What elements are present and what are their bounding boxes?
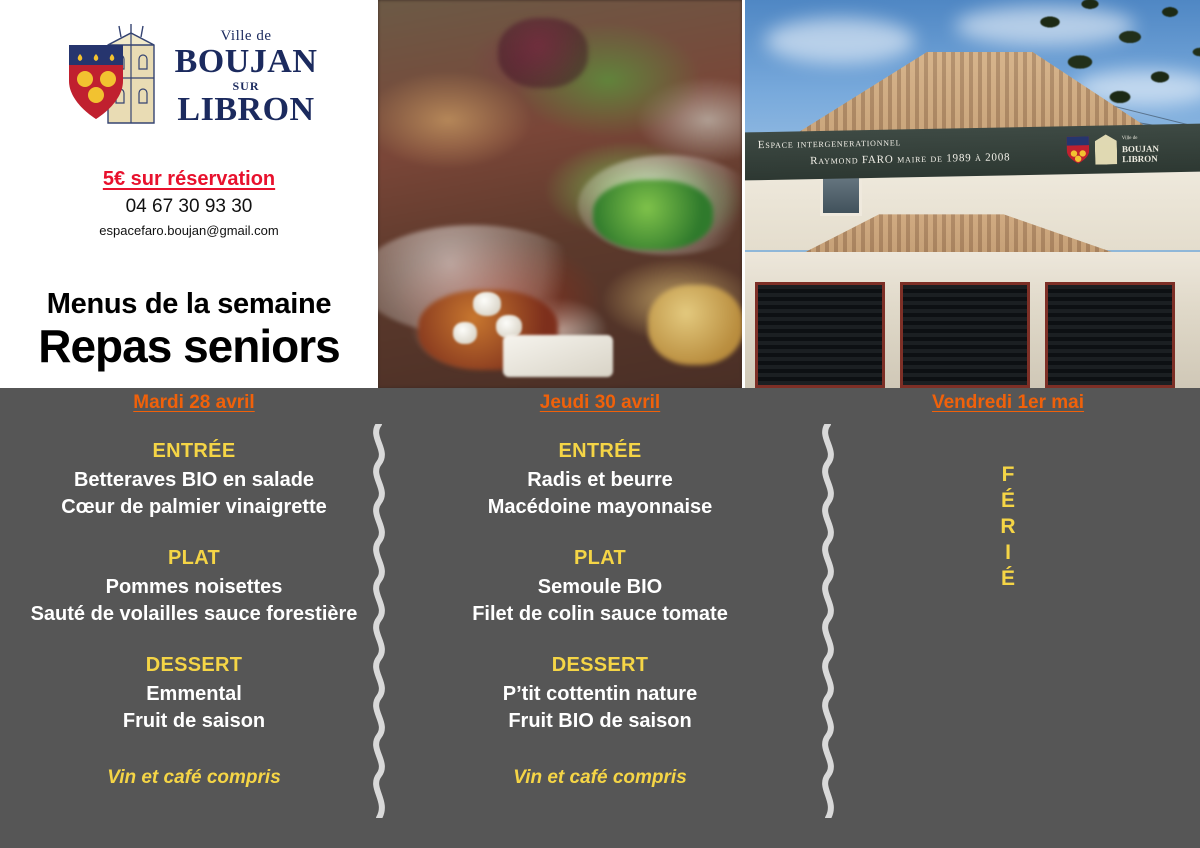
page-subtitle: Menus de la semaine xyxy=(0,288,378,321)
garage-door-1 xyxy=(755,282,885,388)
contact-email: espacefaro.boujan@gmail.com xyxy=(0,223,378,238)
included-note-thursday: Vin et café compris xyxy=(420,767,780,789)
menu-panel: Mardi 28 avril ENTRÉE Betteraves BIO en … xyxy=(0,388,1200,848)
food-mozzarella-3 xyxy=(453,322,477,344)
food-wine-glass xyxy=(498,18,588,88)
reservation-price: 5€ sur réservation xyxy=(0,168,378,191)
building-sign: Espace intergenerationnel Raymond FARO m… xyxy=(745,123,1200,180)
section-heading: ENTRÉE xyxy=(420,440,780,463)
food-photo xyxy=(378,0,742,388)
menu-column-thursday: Jeudi 30 avril ENTRÉE Radis et beurre Ma… xyxy=(420,388,780,789)
dish-item: Fruit de saison xyxy=(14,708,374,735)
sign-line-2: Raymond FARO maire de 1989 à 2008 xyxy=(810,149,1011,170)
garage-door-3 xyxy=(1045,282,1175,388)
closed-letter: F xyxy=(838,462,1178,488)
sign-line-1: Espace intergenerationnel xyxy=(758,136,902,151)
page-title: Repas seniors xyxy=(0,319,378,373)
sign-wordmark: Ville de BOUJAN LIBRON xyxy=(1122,133,1197,164)
sign-wordmark-big2: LIBRON xyxy=(1122,153,1158,164)
section-heading: DESSERT xyxy=(420,654,780,677)
dish-item: Cœur de palmier vinaigrette xyxy=(14,494,374,521)
section-plat-thursday: PLAT Semoule BIO Filet de colin sauce to… xyxy=(420,547,780,628)
dish-item: Emmental xyxy=(14,681,374,708)
closed-letter: R xyxy=(838,514,1178,540)
menu-column-tuesday: Mardi 28 avril ENTRÉE Betteraves BIO en … xyxy=(14,388,374,789)
section-entree-thursday: ENTRÉE Radis et beurre Macédoine mayonna… xyxy=(420,440,780,521)
food-mozzarella-1 xyxy=(473,292,501,316)
section-heading: DESSERT xyxy=(14,654,374,677)
sign-tower-icon xyxy=(1095,134,1118,164)
brand-panel: Ville de BOUJAN SUR LIBRON 5€ sur réserv… xyxy=(0,0,378,388)
closed-holiday-notice: F É R I É xyxy=(838,462,1178,592)
contact-phone: 04 67 30 93 30 xyxy=(0,196,378,218)
sign-crest-icon xyxy=(1066,136,1091,164)
section-entree-tuesday: ENTRÉE Betteraves BIO en salade Cœur de … xyxy=(14,440,374,521)
food-paper-sheet xyxy=(503,335,613,377)
food-potatoes xyxy=(648,285,742,365)
included-note-tuesday: Vin et café compris xyxy=(14,767,374,789)
day-title-thursday: Jeudi 30 avril xyxy=(420,392,780,414)
wordmark-ville-de: Ville de xyxy=(220,29,271,44)
sign-town-logo: Ville de BOUJAN LIBRON xyxy=(1066,131,1197,167)
garage-door-2 xyxy=(900,282,1030,388)
wavy-divider-1 xyxy=(366,424,392,818)
dish-item: P’tit cottentin nature xyxy=(420,681,780,708)
section-plat-tuesday: PLAT Pommes noisettes Sauté de volailles… xyxy=(14,547,374,628)
section-heading: PLAT xyxy=(420,547,780,570)
dish-item: Pommes noisettes xyxy=(14,574,374,601)
town-logo: Ville de BOUJAN SUR LIBRON xyxy=(0,18,378,138)
section-heading: ENTRÉE xyxy=(14,440,374,463)
town-wordmark: Ville de BOUJAN SUR LIBRON xyxy=(175,29,318,127)
building-photo: Espace intergenerationnel Raymond FARO m… xyxy=(745,0,1200,388)
closed-letter: I xyxy=(838,540,1178,566)
contact-block: 5€ sur réservation 04 67 30 93 30 espace… xyxy=(0,168,378,238)
day-title-friday: Vendredi 1er mai xyxy=(838,392,1178,414)
dish-item: Filet de colin sauce tomate xyxy=(420,601,780,628)
section-dessert-tuesday: DESSERT Emmental Fruit de saison xyxy=(14,654,374,735)
closed-letter: É xyxy=(838,488,1178,514)
day-title-tuesday: Mardi 28 avril xyxy=(14,392,374,414)
dish-item: Radis et beurre xyxy=(420,467,780,494)
menu-column-friday: Vendredi 1er mai F É R I É xyxy=(838,388,1178,592)
section-heading: PLAT xyxy=(14,547,374,570)
cloud-1 xyxy=(765,18,915,64)
dish-item: Betteraves BIO en salade xyxy=(14,467,374,494)
food-salad-greens xyxy=(593,180,713,250)
title-block: Menus de la semaine Repas seniors xyxy=(0,288,378,373)
building-sign-text: Espace intergenerationnel Raymond FARO m… xyxy=(758,132,1011,171)
section-dessert-thursday: DESSERT P’tit cottentin nature Fruit BIO… xyxy=(420,654,780,735)
header-banner: Espace intergenerationnel Raymond FARO m… xyxy=(0,0,1200,388)
dish-item: Macédoine mayonnaise xyxy=(420,494,780,521)
town-crest-icon xyxy=(61,23,169,133)
dish-item: Fruit BIO de saison xyxy=(420,708,780,735)
dish-item: Sauté de volailles sauce forestière xyxy=(14,601,374,628)
wordmark-libron: LIBRON xyxy=(177,93,314,127)
closed-letter: É xyxy=(838,566,1178,592)
dish-item: Semoule BIO xyxy=(420,574,780,601)
wordmark-boujan: BOUJAN xyxy=(175,45,318,79)
tree-foliage xyxy=(1010,0,1200,132)
